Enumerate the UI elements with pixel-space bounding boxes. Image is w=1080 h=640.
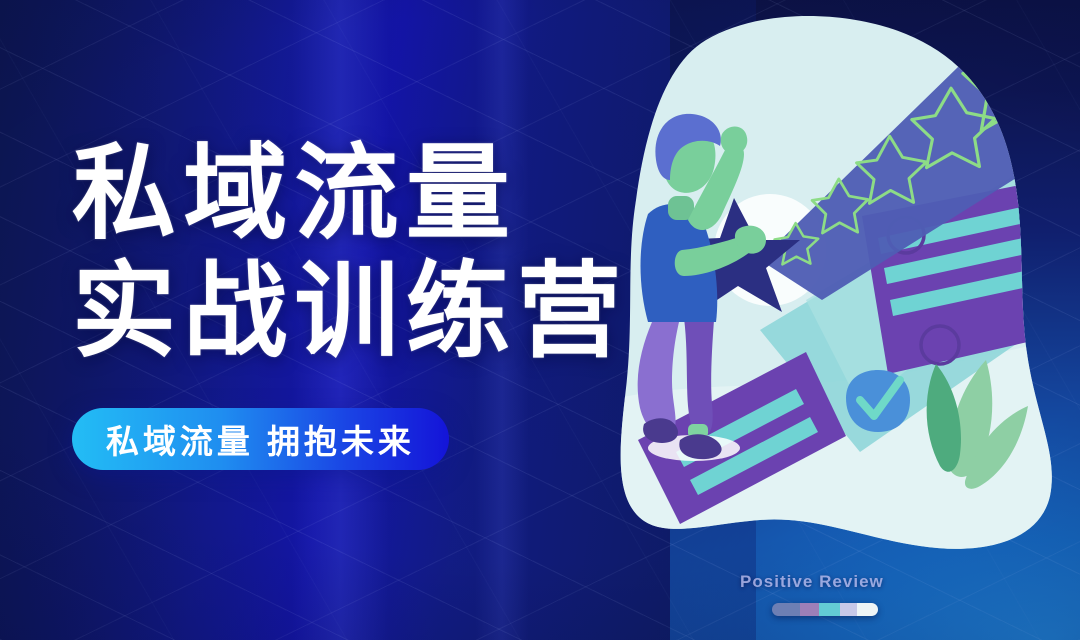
segment-lavender [840,603,857,616]
title-line-1: 私域流量 [72,140,672,248]
poster-canvas: 私域流量 实战训练营 私域流量 拥抱未来 Positive Review [0,0,1080,640]
hand-raised [721,127,748,155]
title-block: 私域流量 实战训练营 私域流量 拥抱未来 [72,140,672,470]
check-badge [846,370,910,432]
segment-white [857,603,878,616]
title-line-2: 实战训练营 [72,258,672,366]
review-illustration [610,0,1080,640]
segment-mauve [800,603,819,616]
tagline-badge[interactable]: 私域流量 拥抱未来 [72,408,449,470]
rating-progress-bar [772,603,878,616]
caption-block: Positive Review [740,572,884,616]
segment-muted-blue [772,603,800,616]
segment-cyan [819,603,840,616]
caption-label: Positive Review [740,572,884,592]
tagline-badge-label: 私域流量 拥抱未来 [106,415,415,463]
